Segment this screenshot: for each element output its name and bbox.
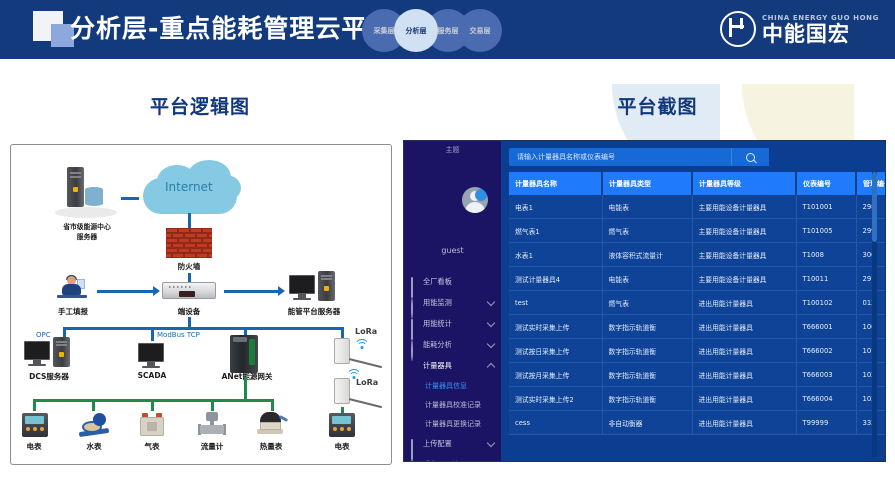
sidebar-item-upload-config[interactable]: 上传配置 [404,433,501,454]
logo-chinese: 中能国宏 [762,23,879,46]
arrow-manual-edge [97,290,155,293]
sidebar-subitem-label: 计量器具校准记录 [425,400,481,410]
slide-root: 分析层-重点能耗管理云平台 采集层 服务层 交易层 分析层 CHINA ENER… [0,0,895,504]
app-main: 请输入计量器具名称或仪表编号 计量器具名称 计量器具类型 计量器具等级 仪表编号… [501,141,886,462]
cell-instrument-no: T666003 [796,363,856,387]
sidebar-item-analysis[interactable]: 能耗分析 [404,334,501,355]
chevron-down-icon [487,340,495,348]
cell-management-no: 299 [856,219,886,243]
cell-type: 数字指示轨道衡 [602,363,692,387]
avatar[interactable] [462,187,488,213]
cell-instrument-no: T1008 [796,243,856,267]
bus-branch-scada [151,327,154,341]
arrowhead-manual-edge [153,286,160,296]
sidebar-theme-label[interactable]: 主题 [404,145,501,155]
sidebar-item-label: 上传配置 [423,439,452,449]
cell-management-no: 100 [856,315,886,339]
cell-name: 测试按月采集上传 [509,363,602,387]
table-row[interactable]: 测试实时采集上传 数字指示轨道衡 进出用能计量器具 T666001 100 [509,315,886,339]
green-branch-1 [33,399,36,411]
label-modbus: ModBus TCP [157,331,200,339]
cloud-puff-3 [211,175,241,201]
label-meter-5: 电表 [316,441,368,452]
meter-icon-water [79,413,109,437]
label-meter-0: 电表 [10,441,60,452]
table-row[interactable]: 测试按月采集上传 数字指示轨道衡 进出用能计量器具 T666003 102 [509,363,886,387]
right-section-title: 平台截图 [420,92,895,119]
meter-icon-gas [139,413,165,437]
cell-name: cess [509,411,602,435]
cell-name: test [509,291,602,315]
cell-name: 燃气表1 [509,219,602,243]
cell-instrument-no: T666004 [796,387,856,411]
anet-gateway-icon [230,335,258,373]
meter-icon-electric-1 [22,413,48,437]
table-row[interactable]: 燃气表1 燃气表 主要用能设备计量器具 T101005 299 [509,219,886,243]
layer-circle-trade[interactable]: 交易层 [458,9,502,52]
cell-instrument-no: T666002 [796,339,856,363]
label-meter-1: 水表 [68,441,120,452]
label-edge-device: 端设备 [155,306,223,317]
link-server-cloud [121,197,139,200]
company-logo: CHINA ENERGY GUO HONG 中能国宏 [720,8,879,50]
label-meter-2: 气表 [126,441,178,452]
label-lora-1: LoRa [355,327,377,336]
layer-circles: 采集层 服务层 交易层 分析层 [362,9,504,52]
cell-grade: 主要用能设备计量器具 [692,267,796,291]
cell-name: 测试实时采集上传 [509,315,602,339]
lora-antenna-2 [349,398,382,408]
col-header-name[interactable]: 计量器具名称 [509,172,602,195]
search-icon [746,153,755,162]
sidebar-username: guest [404,246,501,255]
cell-grade: 主要用能设备计量器具 [692,195,796,219]
search-input[interactable]: 请输入计量器具名称或仪表编号 [509,148,749,166]
green-branch-4 [211,399,214,411]
sidebar-item-label: 能耗分析 [423,340,452,350]
cell-grade: 进出用能计量器具 [692,411,796,435]
green-branch-5 [271,399,274,411]
meter-table: 计量器具名称 计量器具类型 计量器具等级 仪表编号 管理编号 电表1 电能表 主… [509,172,886,435]
sidebar-item-statistics[interactable]: 用能统计 [404,313,501,334]
platform-screenshot: 主题 guest 全厂看板 用能监测 用能统计 [403,140,886,462]
cell-instrument-no: T101005 [796,219,856,243]
sidebar-item-label: 用能统计 [423,319,452,329]
edge-device-icon [162,282,216,299]
cell-management-no: 103 [856,387,886,411]
lora-device-1-icon [334,338,350,364]
sidebar-item-monitor[interactable]: 用能监测 [404,292,501,313]
cell-grade: 主要用能设备计量器具 [692,219,796,243]
sidebar-subitem-calibration[interactable]: 计量器具校准记录 [404,395,501,414]
app-sidebar: 主题 guest 全厂看板 用能监测 用能统计 [404,141,501,462]
sidebar-subitem-replacement[interactable]: 计量器具更换记录 [404,414,501,433]
label-dcs: DCS服务器 [10,371,88,382]
table-row[interactable]: 测试计量器具4 电能表 主要用能设备计量器具 T10011 297 [509,267,886,291]
cell-name: 电表1 [509,195,602,219]
manual-entry-icon [55,275,89,301]
cell-type: 电能表 [602,267,692,291]
chevron-down-icon [487,298,495,306]
green-branch-3 [151,399,154,411]
lora-device-2-icon [334,378,350,404]
cell-management-no: 300 [856,243,886,267]
cell-type: 数字指示轨道衡 [602,387,692,411]
cell-management-no: 012 [856,291,886,315]
meter-icon-flow [198,412,226,437]
sidebar-subitem-label: 计量器具信息 [425,381,467,391]
table-scrollbar-thumb[interactable] [872,172,877,242]
meter-icon-heat [257,412,287,437]
cell-name: 测试实时采集上传2 [509,387,602,411]
table-row[interactable]: 水表1 液体容积式流量计 主要用能设备计量器具 T1008 300 [509,243,886,267]
cell-management-no: 297 [856,267,886,291]
sidebar-item-collect-config[interactable]: 采集配置站 [404,454,501,462]
cell-type: 燃气表 [602,291,692,315]
logo-mark-icon [720,11,756,47]
cell-management-no: 333 [856,411,886,435]
cell-instrument-no: T100102 [796,291,856,315]
cell-type: 液体容积式流量计 [602,243,692,267]
cell-management-no: 102 [856,363,886,387]
table-row[interactable]: 测试按日采集上传 数字指示轨道衡 进出用能计量器具 T666002 101 [509,339,886,363]
cell-grade: 进出用能计量器具 [692,363,796,387]
cell-grade: 进出用能计量器具 [692,387,796,411]
sidebar-item-label: 采集配置站 [423,460,459,463]
label-platform-server: 能管平台服务器 [273,306,355,317]
label-firewall: 防火墙 [151,261,227,272]
cell-management-no: 298 [856,195,886,219]
cell-instrument-no: T10011 [796,267,856,291]
label-lora-2: LoRa [356,378,378,387]
label-meter-4: 热量表 [245,441,297,452]
cell-instrument-no: T666001 [796,315,856,339]
label-opc: OPC [36,331,51,339]
label-gateway: ANet能源网关 [207,371,287,382]
label-province-server-line1: 省市级能源中心 [39,221,135,231]
cell-grade: 进出用能计量器具 [692,315,796,339]
chevron-up-icon [487,363,495,371]
cell-type: 数字指示轨道衡 [602,339,692,363]
monitor-icon [411,299,419,307]
green-bus-drop [244,377,247,401]
meter-icon-electric-2 [329,413,355,437]
table-body: 电表1 电能表 主要用能设备计量器具 T101001 298 燃气表1 燃气表 … [509,195,886,435]
arrow-edge-platform [224,290,280,293]
cell-management-no: 101 [856,339,886,363]
sidebar-subitem-meter-info[interactable]: 计量器具信息 [404,376,501,395]
label-scada: SCADA [121,371,183,380]
sidebar-subitem-label: 计量器具更换记录 [425,419,481,429]
chart-icon [411,320,419,328]
wifi-icon-1 [355,339,369,350]
cell-type: 非自动衡器 [602,411,692,435]
chevron-down-icon [487,439,495,447]
dashboard-icon [411,278,419,286]
search-button[interactable] [731,148,769,166]
analysis-icon [411,341,419,349]
chevron-down-icon [487,460,495,462]
collect-icon [411,461,419,463]
green-branch-2 [92,399,95,411]
sidebar-item-label: 全厂看板 [423,277,452,287]
upload-icon [411,440,419,448]
cell-name: 测试按日采集上传 [509,339,602,363]
bus-horizontal [63,327,343,330]
link-cloud-firewall [188,213,191,228]
logo-english: CHINA ENERGY GUO HONG [762,13,879,23]
cell-grade: 进出用能计量器具 [692,291,796,315]
cell-name: 测试计量器具4 [509,267,602,291]
sidebar-item-dashboard[interactable]: 全厂看板 [404,271,501,292]
table-row[interactable]: test 燃气表 进出用能计量器具 T100102 012 [509,291,886,315]
label-meter-3: 流量计 [186,441,238,452]
table-row[interactable]: cess 非自动衡器 进出用能计量器具 T99999 333 [509,411,886,435]
cell-grade: 主要用能设备计量器具 [692,243,796,267]
sidebar-item-label: 用能监测 [423,298,452,308]
firewall-icon [166,228,212,260]
cell-grade: 进出用能计量器具 [692,339,796,363]
col-header-grade[interactable]: 计量器具等级 [692,172,796,195]
cell-instrument-no: T101001 [796,195,856,219]
server-shadow [55,207,117,218]
lora-antenna-1 [349,358,382,368]
left-section-title: 平台逻辑图 [0,92,400,119]
database-icon [85,187,103,207]
sidebar-menu: 全厂看板 用能监测 用能统计 能耗分析 [404,271,501,462]
meter-icon [411,362,419,370]
cell-type: 数字指示轨道衡 [602,315,692,339]
cell-instrument-no: T99999 [796,411,856,435]
sidebar-item-meters[interactable]: 计量器具 [404,355,501,376]
arrowhead-edge-platform [278,286,285,296]
sidebar-item-label: 计量器具 [423,361,452,371]
table-row[interactable]: 电表1 电能表 主要用能设备计量器具 T101001 298 [509,195,886,219]
label-internet: Internet [165,180,213,194]
col-header-type[interactable]: 计量器具类型 [602,172,692,195]
label-province-server-line2: 服务器 [39,231,135,241]
table-row[interactable]: 测试实时采集上传2 数字指示轨道衡 进出用能计量器具 T666004 103 [509,387,886,411]
cell-type: 电能表 [602,195,692,219]
chevron-down-icon [487,319,495,327]
layer-circle-analysis[interactable]: 分析层 [394,9,438,52]
page-title: 分析层-重点能耗管理云平台 [70,11,393,47]
col-header-instrument-no[interactable]: 仪表编号 [796,172,856,195]
logo-text: CHINA ENERGY GUO HONG 中能国宏 [762,13,879,46]
page-header: 分析层-重点能耗管理云平台 采集层 服务层 交易层 分析层 CHINA ENER… [0,0,895,59]
search-placeholder: 请输入计量器具名称或仪表编号 [517,152,615,162]
cell-type: 燃气表 [602,219,692,243]
label-manual-entry: 手工填报 [39,306,107,317]
platform-logic-diagram: 省市级能源中心 服务器 Internet 防火墙 手工填报 [10,144,392,465]
cell-name: 水表1 [509,243,602,267]
table-header-row: 计量器具名称 计量器具类型 计量器具等级 仪表编号 管理编号 [509,172,886,195]
col-header-management-no[interactable]: 管理编号 [856,172,886,195]
